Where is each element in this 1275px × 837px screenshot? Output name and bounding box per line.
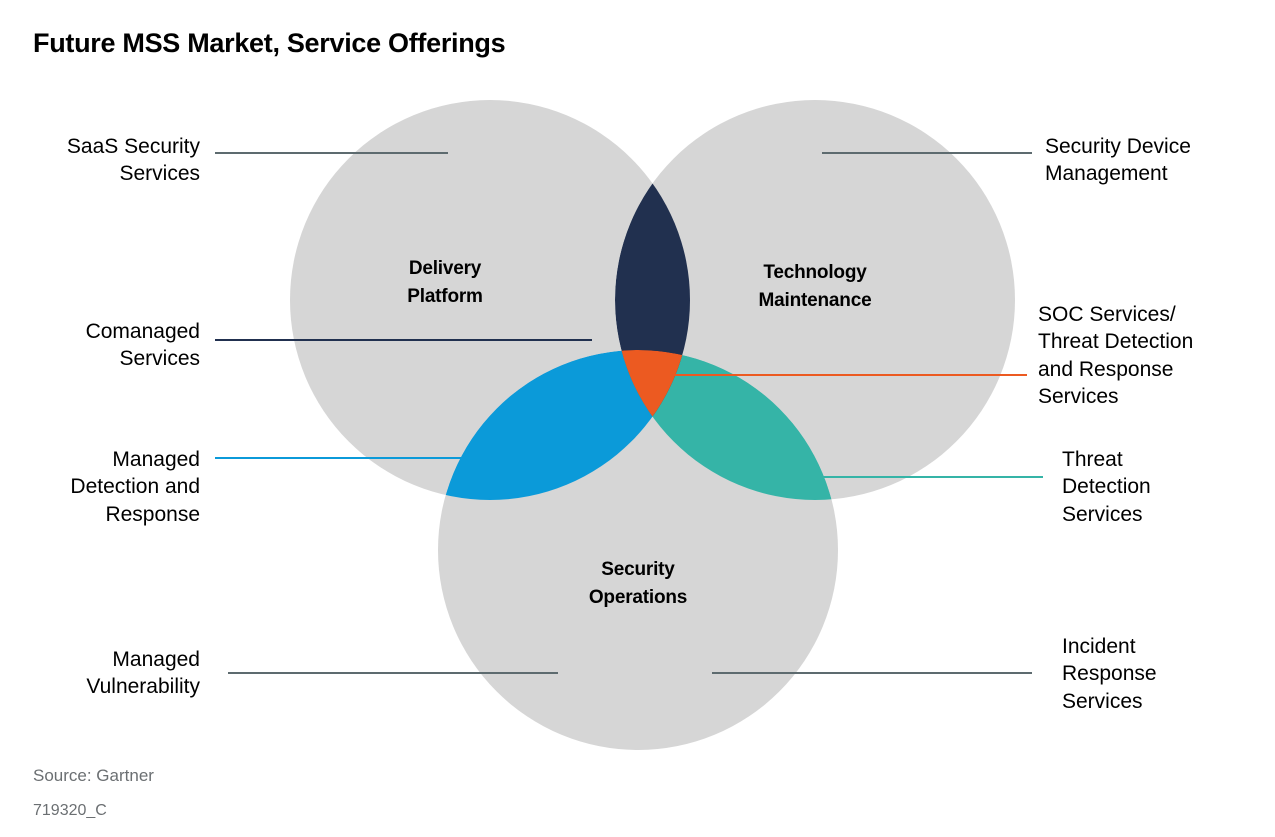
- callout-label-managed-detection-and-response: Managed Detection and Response: [10, 446, 200, 528]
- callout-label-comanaged-services: Comanaged Services: [10, 318, 200, 373]
- set-label-technology-maintenance: Technology Maintenance: [715, 259, 915, 314]
- set-label-delivery-platform: Delivery Platform: [355, 255, 535, 310]
- callout-label-security-device-management: Security Device Management: [1045, 133, 1265, 188]
- chart-id: 719320_C: [33, 802, 107, 820]
- callout-label-managed-vulnerability: Managed Vulnerability: [10, 646, 200, 701]
- callout-label-saas-security-services: SaaS Security Services: [10, 133, 200, 188]
- callout-label-soc-services: SOC Services/ Threat Detection and Respo…: [1038, 301, 1268, 410]
- set-label-security-operations: Security Operations: [548, 556, 728, 611]
- venn-diagram-page: Future MSS Market, Service Offerings: [0, 0, 1275, 837]
- callout-label-threat-detection-services: Threat Detection Services: [1062, 446, 1252, 528]
- callout-label-incident-response-services: Incident Response Services: [1062, 633, 1252, 715]
- source-note: Source: Gartner: [33, 766, 154, 786]
